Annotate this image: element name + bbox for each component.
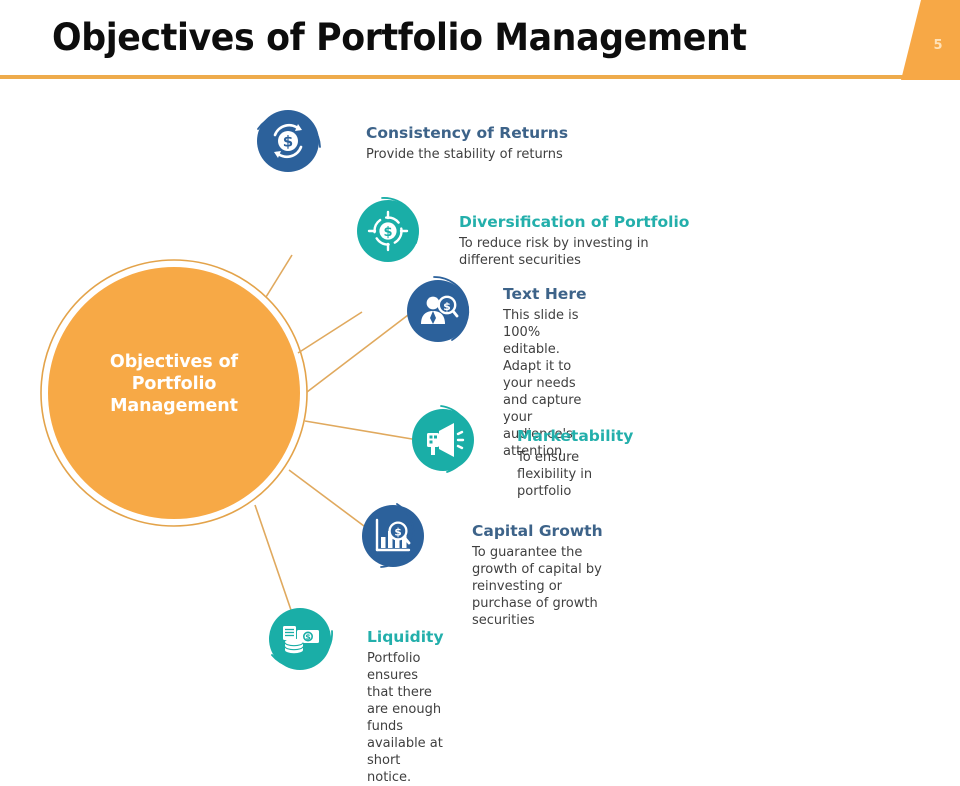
node-text: Liquidity Portfolio ensures that there a… [367,628,444,786]
connector-marketability [305,421,418,440]
node-text: Diversification of Portfolio To reduce r… [459,213,689,269]
node-title: Marketability [517,427,633,446]
page-title: Objectives of Portfolio Management [52,16,804,59]
node-description: To ensure flexibility in portfolio [517,449,633,500]
connector-text-here [307,312,412,392]
recycle-dollar-icon: $ [257,110,319,172]
hub-label: Objectives of Portfolio Management [48,351,300,417]
node-title: Capital Growth [472,522,603,541]
svg-text:$: $ [394,527,401,539]
node-badge[interactable]: $ [362,505,424,567]
megaphone-icon [412,409,474,471]
node-description: Portfolio ensures that there are enough … [367,650,444,786]
node-badge[interactable]: $ [407,280,469,342]
node-title: Diversification of Portfolio [459,213,689,232]
node-text: Consistency of Returns Provide the stabi… [366,124,568,163]
svg-text:$: $ [383,225,392,240]
node-description: To guarantee the growth of capital by re… [472,544,603,629]
person-dollar-search-icon: $ [407,280,469,342]
node-title: Text Here [503,285,586,304]
node-text: Capital Growth To guarantee the growth o… [472,522,603,629]
slide-header: Objectives of Portfolio Management 5 [0,0,960,80]
node-description: To reduce risk by investing in different… [459,235,689,269]
svg-text:$: $ [305,633,311,642]
objectives-radial-diagram: Objectives of Portfolio Management $ [0,80,960,720]
connector-diversification-of-portfolio [298,312,362,353]
page-number: 5 [925,38,951,53]
connector-liquidity [255,505,292,613]
node-title: Consistency of Returns [366,124,568,143]
node-text: Marketability To ensure flexibility in p… [517,427,633,500]
cash-coins-icon: $ [269,608,331,670]
svg-text:$: $ [283,133,293,151]
header-divider [0,75,903,79]
svg-text:$: $ [443,300,451,313]
target-dollar-icon: $ [357,200,419,262]
node-badge[interactable] [412,409,474,471]
hub-node[interactable]: Objectives of Portfolio Management [48,267,300,519]
node-title: Liquidity [367,628,444,647]
node-description: Provide the stability of returns [366,146,568,163]
node-badge[interactable]: $ [269,608,331,670]
slide-canvas: Objectives of Portfolio Management 5 Obj… [0,0,960,720]
connector-capital-growth [289,470,372,532]
node-badge[interactable]: $ [257,110,319,172]
bar-chart-search-icon: $ [362,505,424,567]
node-badge[interactable]: $ [357,200,419,262]
